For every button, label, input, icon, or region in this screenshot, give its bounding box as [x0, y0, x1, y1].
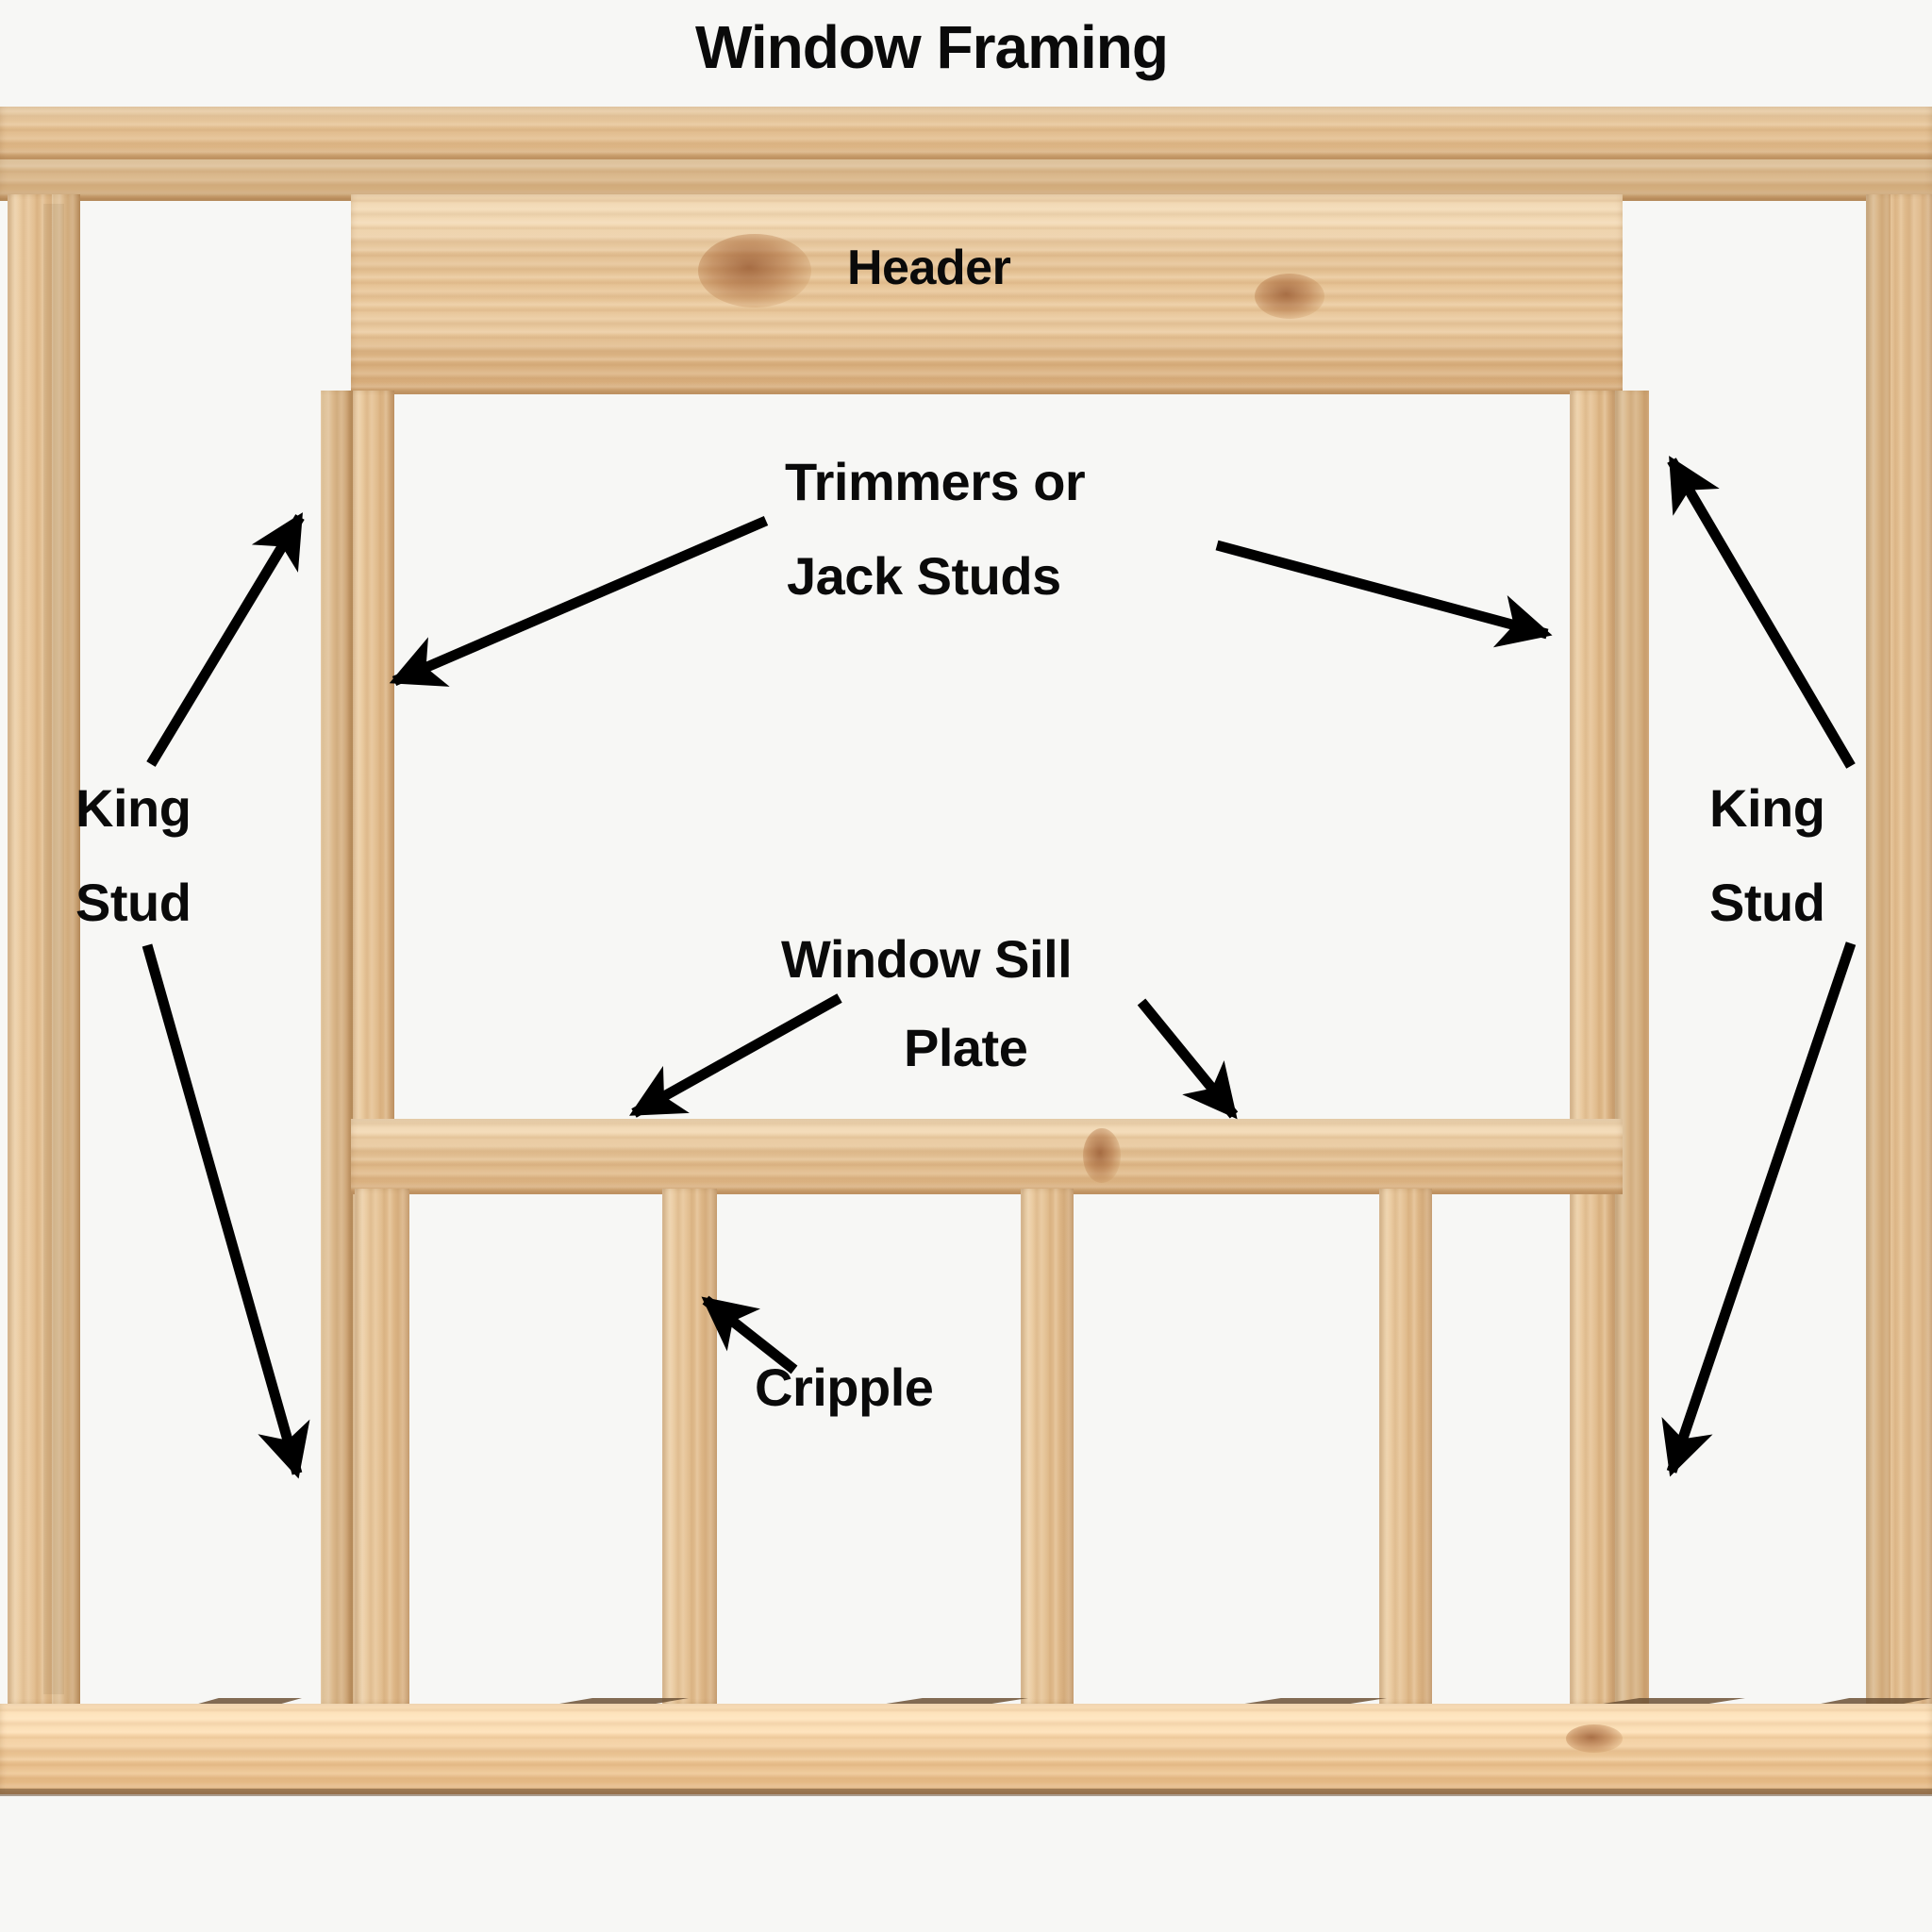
arrow-trimmers-left — [394, 521, 766, 681]
label-trimmers-line1: Trimmers or — [785, 455, 1085, 508]
arrow-king-stud-right-upper — [1672, 460, 1851, 766]
label-header: Header — [847, 243, 1010, 293]
label-window-sill-line2: Plate — [904, 1021, 1027, 1074]
arrow-king-stud-right-lower — [1672, 943, 1851, 1472]
arrow-sill-left — [634, 998, 840, 1113]
label-king-stud-right-line2: Stud — [1709, 875, 1824, 929]
label-cripple: Cripple — [755, 1360, 933, 1414]
label-king-stud-left-line2: Stud — [75, 875, 191, 929]
arrow-king-stud-left-upper — [151, 517, 300, 764]
label-king-stud-left-line1: King — [75, 781, 191, 835]
arrow-king-stud-left-lower — [147, 945, 297, 1474]
arrow-sill-right — [1141, 1002, 1234, 1115]
window-framing-diagram: Window Framing — [0, 0, 1932, 1932]
label-king-stud-right-line1: King — [1709, 781, 1824, 835]
label-trimmers-line2: Jack Studs — [787, 549, 1061, 603]
label-window-sill-line1: Window Sill — [781, 932, 1072, 986]
arrow-trimmers-right — [1217, 545, 1547, 634]
